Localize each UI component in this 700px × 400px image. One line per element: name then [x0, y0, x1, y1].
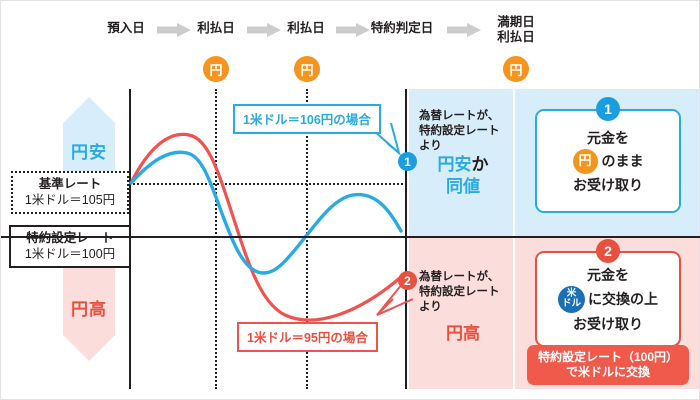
yen-badge-interest-1: 円 — [203, 56, 229, 82]
yen-badge-maturity: 円 — [503, 56, 529, 82]
diagram-canvas: 預入日 利払日 利払日 特約判定日 満期日 利払日 円 円 円 円安 円 — [0, 0, 700, 400]
special-rate-title: 特約設定レート — [13, 230, 127, 246]
explanation-case-2: 為替レートが、 特約設定レート より 円高 — [411, 260, 513, 345]
explanation-2-line-2: 特約設定レート — [419, 285, 513, 300]
timeline-step-2-label: 利払日 — [276, 21, 336, 36]
result-card-2: 元金を 米 ドル に交換の上 お受け取り — [535, 251, 681, 347]
timeline-step-4-label2: 利払日 — [486, 30, 546, 45]
explanation-2-line-3: より — [419, 300, 513, 315]
usd-chip-icon: 米 ドル — [558, 286, 585, 313]
yen-chip-icon: 円 — [573, 149, 598, 174]
timeline-step-0-label: 預入日 — [96, 21, 156, 36]
base-rate-box: 基準レート 1米ドル＝105円 — [11, 171, 129, 214]
base-rate-title: 基準レート — [15, 176, 125, 192]
result-2-row-2-suffix: に交換の上 — [588, 288, 658, 310]
explanation-case-1: 為替レートが、 特約設定レート より 円安か 同値 — [411, 99, 513, 198]
explanation-1-emphasis-2: 同値 — [419, 176, 513, 198]
callout-case-2: 1米ドル＝95円の場合 — [237, 322, 378, 352]
explanation-1-line-1: 為替レートが、 — [419, 109, 513, 124]
yen-badge-interest-2: 円 — [294, 56, 320, 82]
result-2-row-2: 米 ドル に交換の上 — [558, 286, 658, 313]
result-card-1: 元金を 円 のまま お受け取り — [535, 109, 681, 213]
special-rate-line — [1, 236, 700, 238]
special-rate-box: 特約設定レート 1米ドル＝100円 — [9, 225, 131, 268]
right-arrow-icon — [447, 23, 481, 37]
yen-weak-arrow-label: 円安 — [71, 138, 107, 163]
result-2-row-3: お受け取り — [573, 313, 643, 335]
conversion-note-banner: 特約設定レート（100円） で米ドルに交換 — [527, 345, 689, 385]
result-1-row-3: お受け取り — [573, 174, 643, 196]
callout-case-1: 1米ドル＝106円の場合 — [233, 104, 381, 134]
yen-strong-arrow: 円高 — [63, 265, 115, 361]
explanation-1-emphasis-1-suffix: か — [472, 155, 489, 174]
explanation-1-line-2: 特約設定レート — [419, 124, 513, 139]
base-rate-value: 1米ドル＝105円 — [15, 192, 125, 208]
result-1-badge: 1 — [596, 97, 620, 121]
explanation-2-emphasis-1: 円高 — [419, 323, 513, 345]
usd-chip-line-2: ドル — [562, 299, 581, 309]
explanation-1-emphasis-1: 円安か — [419, 154, 513, 176]
result-1-row-1: 元金を — [587, 127, 629, 149]
timeline-step-3-label: 特約判定日 — [360, 21, 444, 36]
result-1-row-2: 円 のまま — [573, 149, 644, 174]
result-2-badge: 2 — [596, 239, 620, 263]
result-2-row-1: 元金を — [587, 264, 629, 286]
marker-1: 1 — [398, 152, 417, 171]
marker-2: 2 — [398, 271, 417, 290]
conversion-note-line-1: 特約設定レート（100円） — [531, 350, 685, 365]
curve-yen-weak — [131, 152, 401, 273]
timeline-step-1-label: 利払日 — [186, 21, 246, 36]
conversion-note-line-2: で米ドルに交換 — [531, 365, 685, 380]
timeline-step-4-label: 満期日 — [486, 15, 546, 30]
explanation-1-emphasis-1-main: 円安 — [438, 155, 472, 174]
timeline-header: 預入日 利払日 利払日 特約判定日 満期日 利払日 — [1, 15, 700, 57]
special-rate-value: 1米ドル＝100円 — [13, 246, 127, 262]
result-1-row-2-suffix: のまま — [602, 150, 644, 172]
explanation-1-line-3: より — [419, 139, 513, 154]
explanation-2-line-1: 為替レートが、 — [419, 270, 513, 285]
yen-strong-arrow-label: 円高 — [71, 295, 107, 320]
